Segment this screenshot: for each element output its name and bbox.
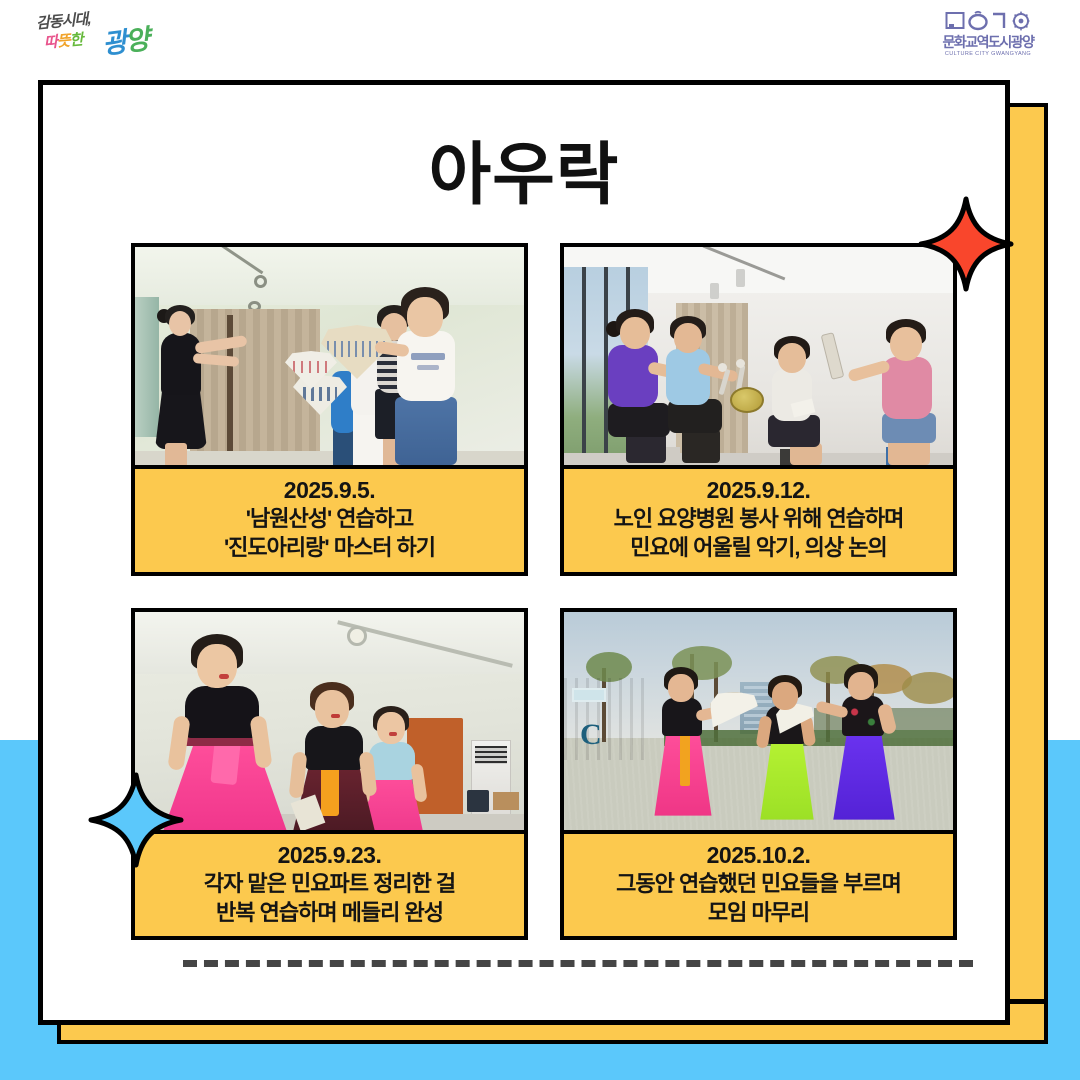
photo-image-2 (564, 247, 953, 465)
page-title: 아우락 (43, 119, 1005, 218)
photo-caption-3: 2025.9.23. 각자 맡은 민요파트 정리한 걸 반복 연습하며 메들리 … (135, 830, 524, 937)
hook-emblem-icon (991, 10, 1009, 32)
accent-bar-yellow-right (1004, 103, 1048, 1003)
photo-image-1 (135, 247, 524, 465)
photo-caption-1: 2025.9.5. '남원산성' 연습하고 '진도아리랑' 마스터 하기 (135, 465, 524, 572)
caption-line-1: '남원산성' 연습하고 (141, 505, 518, 534)
logo-emblem-group (934, 8, 1042, 34)
photo-caption-4: 2025.10.2. 그동안 연습했던 민요들을 부르며 모임 마무리 (564, 830, 953, 937)
brand-syllable-2: 양 (123, 24, 149, 57)
photo-image-4: C (564, 612, 953, 830)
photo-card-1[interactable]: 2025.9.5. '남원산성' 연습하고 '진도아리랑' 마스터 하기 (131, 243, 528, 576)
caption-date: 2025.9.12. (570, 476, 947, 505)
photo-card-2[interactable]: 2025.9.12. 노인 요양병원 봉사 위해 연습하며 민요에 어울릴 악기… (560, 243, 957, 576)
caption-line-1: 그동안 연습했던 민요들을 부르며 (570, 870, 947, 899)
slogan-syllable-3: 한 (69, 31, 83, 49)
photo-card-grid: 2025.9.5. '남원산성' 연습하고 '진도아리랑' 마스터 하기 (131, 243, 957, 940)
gwangyang-city-slogan-logo: 감동시대, 따뜻한 광양 (30, 8, 180, 62)
caption-line-1: 각자 맡은 민요파트 정리한 걸 (141, 870, 518, 899)
photo-card-4[interactable]: C 2025.10.2. (560, 608, 957, 941)
caption-date: 2025.9.5. (141, 476, 518, 505)
caption-line-1: 노인 요양병원 봉사 위해 연습하며 (570, 505, 947, 534)
photo-card-3[interactable]: 2025.9.23. 각자 맡은 민요파트 정리한 걸 반복 연습하며 메들리 … (131, 608, 528, 941)
caption-date: 2025.10.2. (570, 841, 947, 870)
caption-line-2: 민요에 어울릴 악기, 의상 논의 (570, 534, 947, 563)
photo-caption-2: 2025.9.12. 노인 요양병원 봉사 위해 연습하며 민요에 어울릴 악기… (564, 465, 953, 572)
culture-city-gwangyang-logo: 문화교역도시광양 CULTURE CITY GWANGYANG (934, 8, 1042, 57)
dashed-divider (183, 960, 973, 967)
caption-line-2: 반복 연습하며 메들리 완성 (141, 899, 518, 928)
gear-emblem-icon (1011, 10, 1031, 32)
caption-line-2: '진도아리랑' 마스터 하기 (141, 534, 518, 563)
slogan-line-2: 따뜻한 (43, 28, 83, 52)
book-emblem-icon (945, 10, 965, 32)
poster-canvas: 감동시대, 따뜻한 광양 (0, 0, 1080, 1080)
photo-image-3 (135, 612, 524, 830)
logo-english-text: CULTURE CITY GWANGYANG (934, 51, 1042, 57)
circle-emblem-icon (967, 10, 989, 32)
caption-date: 2025.9.23. (141, 841, 518, 870)
poster-frame: 아우락 (38, 80, 1010, 1025)
caption-line-2: 모임 마무리 (570, 899, 947, 928)
slogan-brand: 광양 (100, 17, 150, 61)
logo-korean-text: 문화교역도시광양 (934, 35, 1042, 50)
